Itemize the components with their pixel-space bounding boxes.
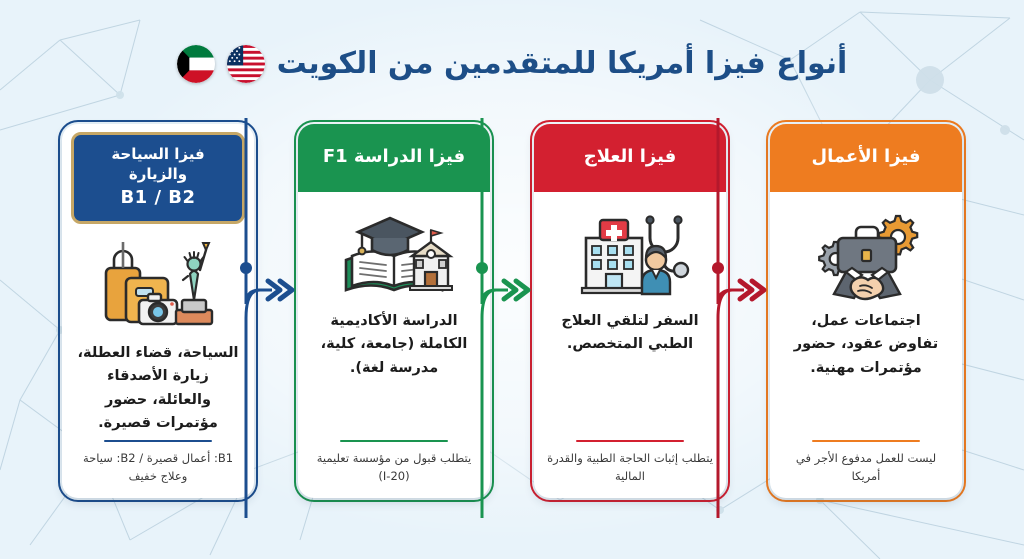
visa-card-student[interactable]: فيزا الدراسة F1 <box>298 124 490 498</box>
visa-card-business[interactable]: فيزا الأعمال <box>770 124 962 498</box>
card-note-tourist: B1: أعمال قصيرة / B2: سياحة وعلاج خفيف <box>62 450 254 498</box>
card-description-business: اجتماعات عمل، تفاوض عقود، حضور مؤتمرات م… <box>770 304 962 438</box>
card-header-tourist: فيزا السياحة والزيارة B1 / B2 <box>71 132 245 224</box>
suitcase-statue-camera-icon <box>62 228 254 336</box>
card-separator-student <box>340 440 448 443</box>
card-subtitle-tourist: B1 / B2 <box>120 185 195 210</box>
card-note-business: ليست للعمل مدفوع الأجر في أمريكا <box>770 450 962 498</box>
card-separator-medical <box>576 440 684 443</box>
kuwait-flag <box>177 45 215 83</box>
card-header-business: فيزا الأعمال <box>770 124 962 192</box>
card-title-business: فيزا الأعمال <box>811 145 920 169</box>
card-note-medical: يتطلب إثبات الحاجة الطبية والقدرة المالي… <box>534 450 726 498</box>
card-note-student: يتطلب قبول من مؤسسة تعليمية (I-20) <box>298 450 490 498</box>
card-description-medical: السفر لتلقي العلاج الطبي المتخصص. <box>534 304 726 438</box>
page-title: أنواع فيزا أمريكا للمتقدمين من الكويت <box>277 49 848 79</box>
visa-card-medical[interactable]: فيزا العلاج <box>534 124 726 498</box>
card-description-tourist: السياحة، قضاء العطلة، زيارة الأصدقاء وال… <box>62 336 254 438</box>
briefcase-handshake-gears-icon <box>770 196 962 304</box>
visa-cards-row: فيزا السياحة والزيارة B1 / B2 <box>0 124 1024 504</box>
card-description-student: الدراسة الأكاديمية الكاملة (جامعة، كلية،… <box>298 304 490 438</box>
card-header-student: فيزا الدراسة F1 <box>298 124 490 192</box>
hospital-stethoscope-doctor-icon <box>534 196 726 304</box>
graduation-book-school-icon <box>298 196 490 304</box>
card-header-medical: فيزا العلاج <box>534 124 726 192</box>
card-slot-student: فيزا الدراسة F1 <box>276 124 512 504</box>
card-separator-tourist <box>104 440 212 443</box>
card-slot-business: فيزا الأعمال <box>748 124 984 504</box>
card-title-tourist: فيزا السياحة والزيارة <box>82 144 234 185</box>
usa-flag <box>227 45 265 83</box>
card-separator-business <box>812 440 920 443</box>
card-slot-medical: فيزا العلاج <box>512 124 748 504</box>
visa-card-tourist[interactable]: فيزا السياحة والزيارة B1 / B2 <box>62 124 254 498</box>
card-title-student: فيزا الدراسة F1 <box>323 145 465 169</box>
card-slot-tourist: فيزا السياحة والزيارة B1 / B2 <box>40 124 276 504</box>
card-title-medical: فيزا العلاج <box>584 145 677 169</box>
page-header: أنواع فيزا أمريكا للمتقدمين من الكويت <box>0 34 1024 94</box>
